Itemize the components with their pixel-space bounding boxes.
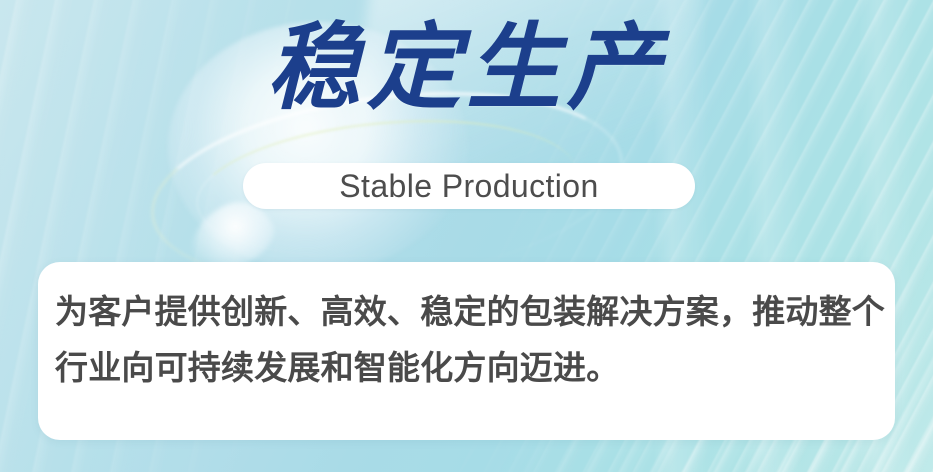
subtitle-pill: Stable Production — [243, 163, 695, 209]
description-text: 为客户提供创新、高效、稳定的包装解决方案，推动整个行业向可持续发展和智能化方向迈… — [55, 284, 887, 396]
promo-banner: 稳定生产 Stable Production 为客户提供创新、高效、稳定的包装解… — [0, 0, 933, 472]
subtitle-text: Stable Production — [339, 168, 598, 205]
headline-title: 稳定生产 — [0, 18, 933, 120]
banner-content: 稳定生产 Stable Production 为客户提供创新、高效、稳定的包装解… — [0, 0, 933, 472]
description-card: 为客户提供创新、高效、稳定的包装解决方案，推动整个行业向可持续发展和智能化方向迈… — [38, 262, 895, 440]
